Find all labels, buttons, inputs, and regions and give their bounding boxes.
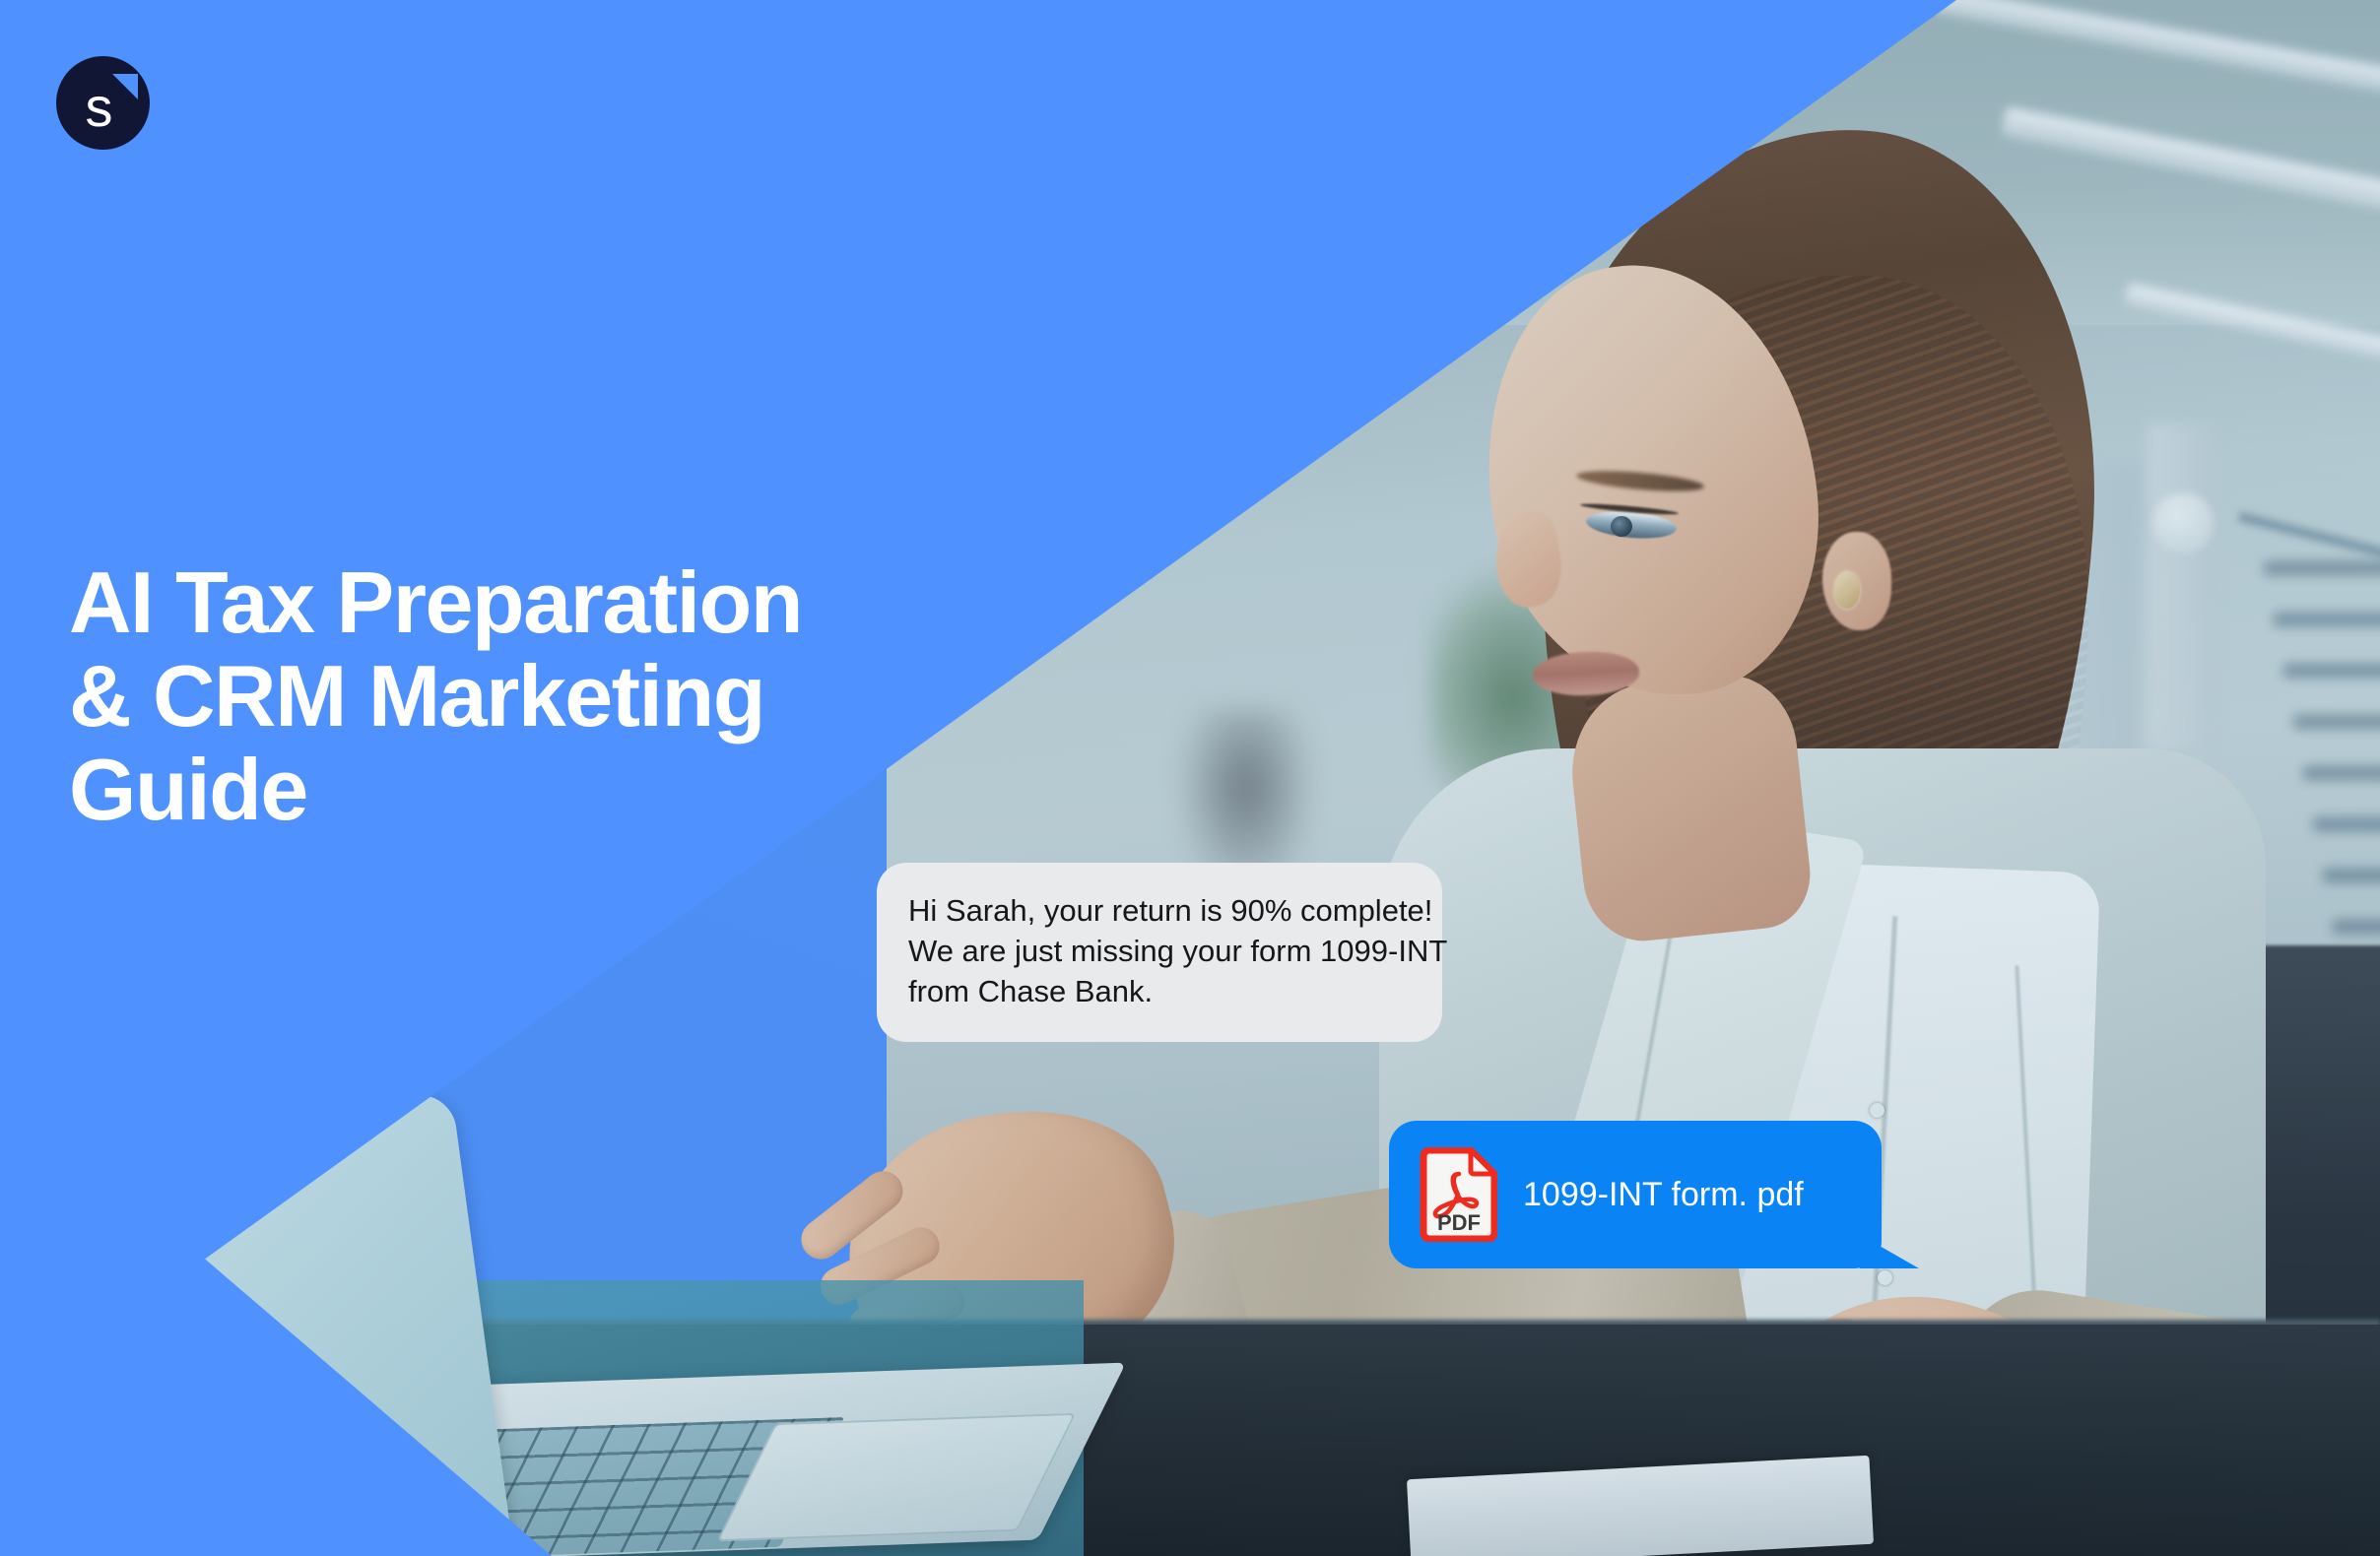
brand-logo[interactable]: s — [56, 56, 150, 150]
message-line-1: Hi Sarah, your return is 90% complete! — [908, 890, 1411, 931]
pdf-file-icon: PDF — [1419, 1147, 1497, 1242]
title-line-2: & CRM Marketing — [69, 647, 764, 745]
svg-text:PDF: PDF — [1437, 1210, 1481, 1235]
page-title: AI Tax Preparation & CRM Marketing Guide — [69, 555, 857, 836]
chat-bubble-incoming: Hi Sarah, your return is 90% complete! W… — [877, 863, 1442, 1042]
pupil — [1611, 516, 1632, 537]
shirt-button — [1870, 1103, 1884, 1118]
message-line-2: We are just missing your form 1099-INT — [908, 931, 1411, 971]
logo-flag-icon — [112, 74, 138, 99]
logo-letter: s — [86, 80, 113, 135]
shirt-button — [1878, 1270, 1892, 1285]
attachment-file-name: 1099-INT form. pdf — [1523, 1176, 1804, 1214]
hero-banner: s AI Tax Preparation & CRM Marketing Gui… — [0, 0, 2380, 1556]
wall-lamp — [2152, 492, 2214, 553]
message-line-3: from Chase Bank. — [908, 971, 1411, 1011]
title-line-3: Guide — [69, 741, 307, 838]
neck — [1563, 669, 1816, 947]
office-staircase — [2256, 551, 2380, 965]
wall-pillar — [2148, 423, 2216, 748]
earring — [1834, 571, 1860, 609]
title-line-1: AI Tax Preparation — [69, 553, 802, 651]
chat-bubble-attachment[interactable]: PDF 1099-INT form. pdf — [1389, 1121, 1882, 1268]
